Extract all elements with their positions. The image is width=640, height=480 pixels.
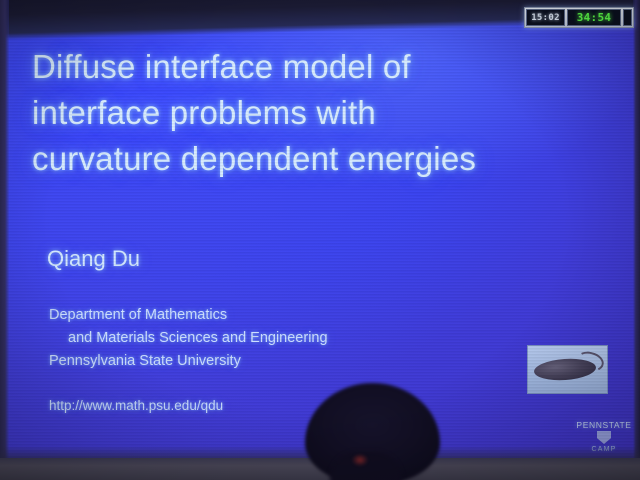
- penn-state-wordmark: PENNSTATE: [572, 420, 636, 430]
- title-line-2: interface problems with: [32, 90, 592, 136]
- author-homepage-url: http://www.math.psu.edu/qdu: [49, 398, 223, 413]
- slide-title: Diffuse interface model of interface pro…: [32, 44, 592, 182]
- lecture-screenshot: Diffuse interface model of interface pro…: [0, 0, 640, 480]
- timer-indicator-icon: [623, 9, 632, 26]
- affiliation-line-3: Pennsylvania State University: [49, 350, 479, 373]
- title-line-1: Diffuse interface model of: [32, 44, 592, 90]
- affiliation-line-1: Department of Mathematics: [49, 304, 479, 327]
- audience-ear-highlight: [352, 454, 368, 466]
- shield-icon: [597, 431, 611, 444]
- recording-timer-overlay[interactable]: 15:02 34:54: [524, 7, 634, 28]
- screen-left-edge: [0, 0, 9, 480]
- affiliation-line-2: and Materials Sciences and Engineering: [49, 327, 479, 350]
- vesicle-figure-thumbnail: [527, 345, 608, 394]
- affiliation-block: Department of Mathematics and Materials …: [49, 304, 479, 373]
- screen-right-edge: [633, 0, 640, 480]
- timer-elapsed-display: 15:02: [526, 9, 565, 26]
- timer-remaining-display: 34:54: [567, 9, 621, 26]
- title-line-3: curvature dependent energies: [32, 136, 592, 182]
- author-name: Qiang Du: [47, 246, 140, 272]
